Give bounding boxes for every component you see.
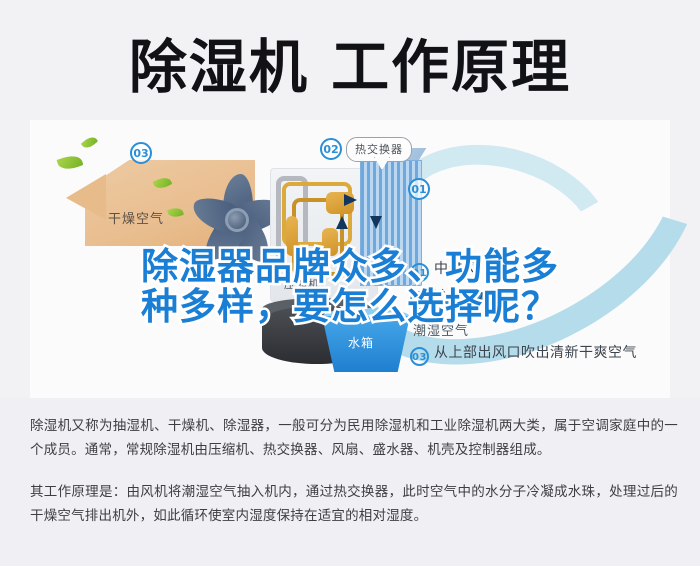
overlay-line-1: 除湿器品牌众多、功能多 [0, 247, 700, 287]
title-band: 除湿机 工作原理 [0, 0, 700, 128]
water-tank-label: 水箱 [348, 334, 374, 351]
fan-hub [225, 208, 249, 232]
badge-03: 03 [130, 142, 152, 164]
page-title: 除湿机 工作原理 [0, 34, 700, 100]
badge-02: 02 [320, 138, 342, 160]
body-paragraph-2: 其工作原理是：由风机将潮湿空气抽入机内，通过热交换器，此时空气中的水分子冷凝成水… [30, 480, 678, 528]
overlay-line-2: 种多样，要怎么选择呢？ [0, 287, 700, 327]
badge-01: 01 [408, 178, 430, 200]
diagram-caption-03: 03从上部出风口吹出清新干爽空气 [410, 342, 637, 366]
caption-text: 从上部出风口吹出清新干爽空气 [434, 345, 637, 361]
leaf-icon [81, 134, 98, 151]
leaf-icon [57, 153, 84, 173]
caption-number: 03 [410, 347, 429, 366]
dry-air-label: 干燥空气 [108, 208, 164, 227]
article-body: 除湿机又称为抽湿机、干燥机、除湿器，一般可分为民用除湿机和工业除湿机两大类，属于… [30, 414, 678, 546]
infographic-page: 除湿机 工作原理 [0, 0, 700, 566]
flow-arrow-right-icon [344, 194, 357, 206]
flow-arrow-up-icon [336, 216, 348, 229]
overlay-headline: 除湿器品牌众多、功能多 种多样，要怎么选择呢？ [0, 247, 700, 327]
body-paragraph-1: 除湿机又称为抽湿机、干燥机、除湿器，一般可分为民用除湿机和工业除湿机两大类，属于… [30, 414, 678, 462]
flow-arrow-down-icon [370, 216, 382, 229]
